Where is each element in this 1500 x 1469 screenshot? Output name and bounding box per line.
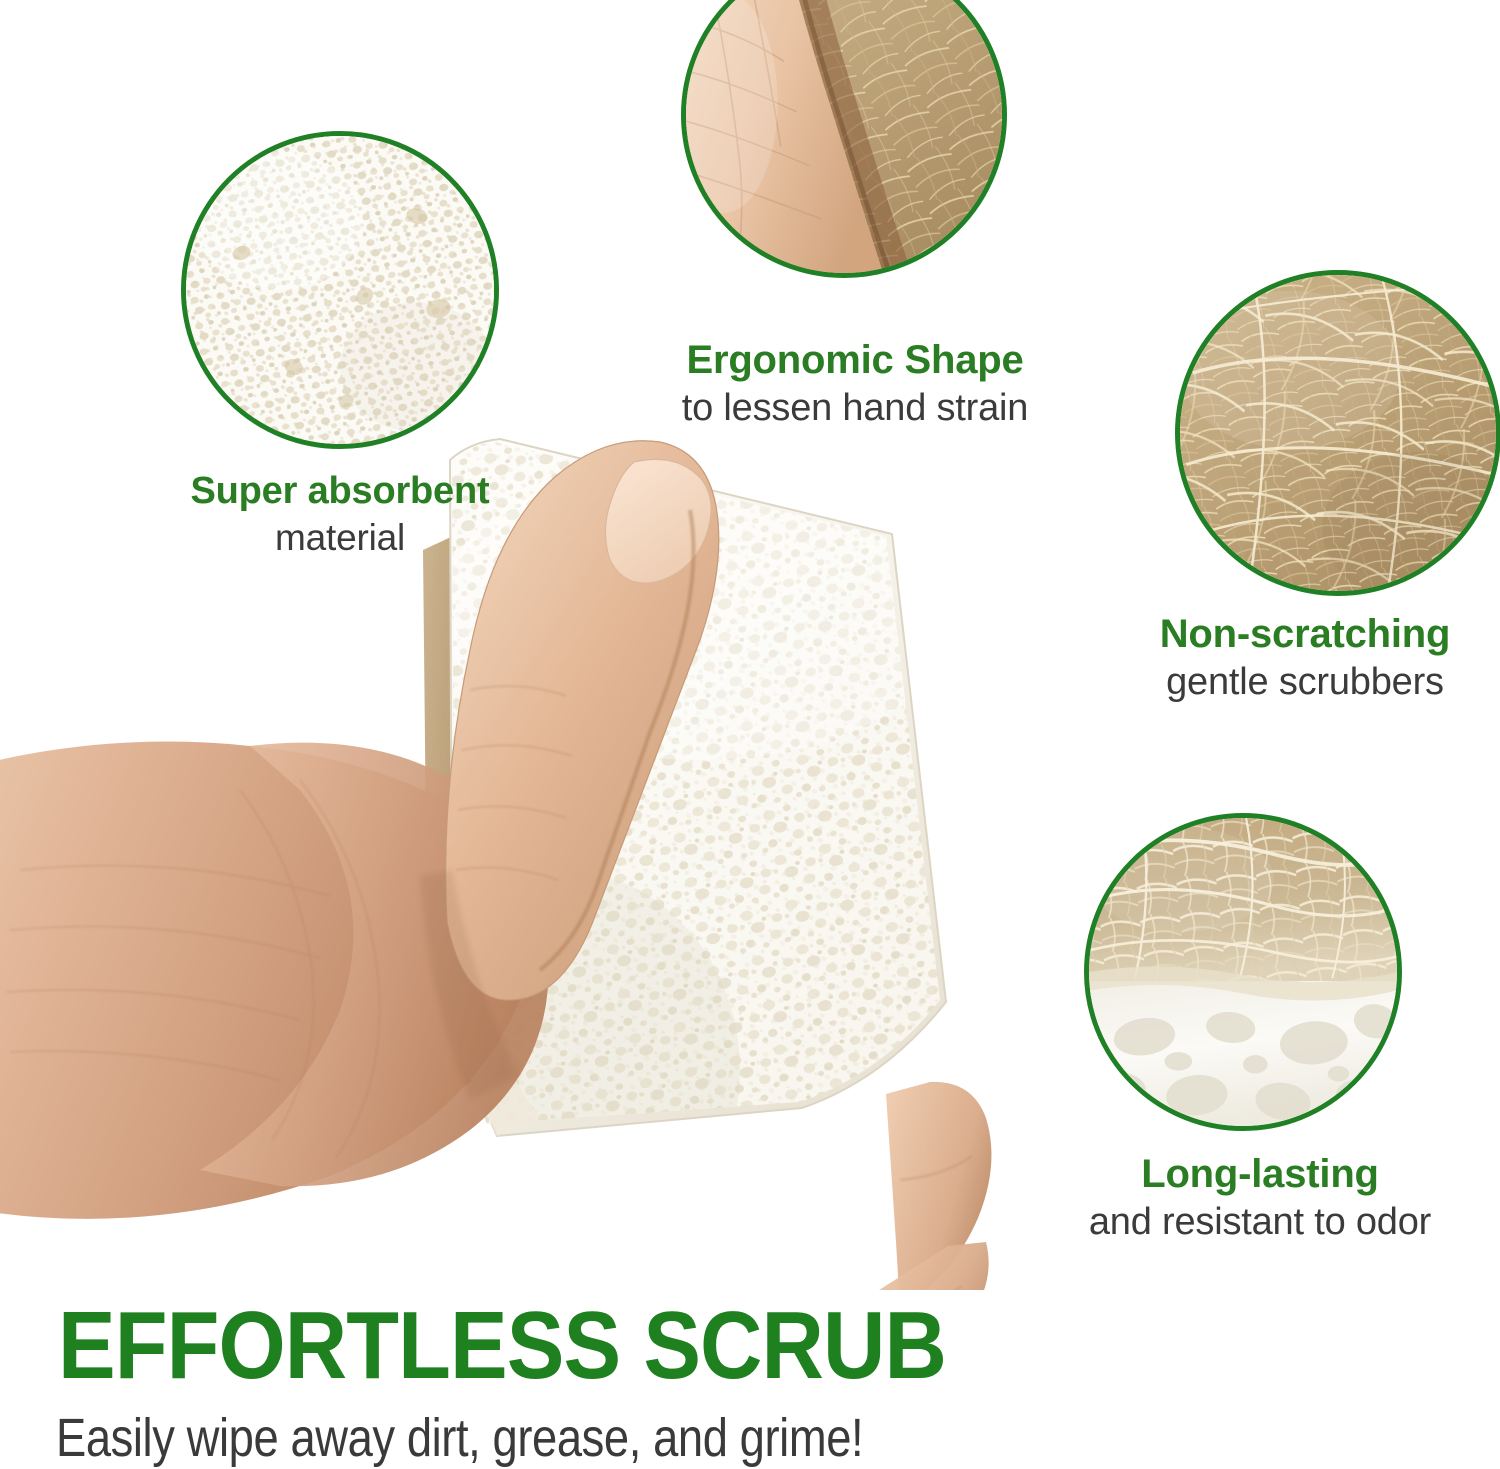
banner-subheadline: Easily wipe away dirt, grease, and grime… bbox=[56, 1410, 1269, 1467]
feature-title: Super absorbent bbox=[105, 470, 575, 513]
feature-title: Long-lasting bbox=[1020, 1152, 1500, 1197]
feature-subtitle: to lessen hand strain bbox=[600, 387, 1110, 430]
feature-caption: Non-scratching gentle scrubbers bbox=[1105, 612, 1500, 703]
hero-product-image bbox=[0, 430, 1010, 1290]
feature-subtitle: material bbox=[105, 517, 575, 558]
thumb-gripping-sponge-closeup-icon bbox=[681, 0, 1007, 278]
feature-caption: Super absorbent material bbox=[105, 470, 575, 558]
layered-cross-section-texture bbox=[1089, 818, 1397, 1126]
hand-holding-sponge-illustration bbox=[0, 430, 1010, 1290]
feature-subtitle: gentle scrubbers bbox=[1105, 661, 1500, 704]
feature-title: Ergonomic Shape bbox=[600, 338, 1110, 383]
loofah-fiber-texture bbox=[1180, 275, 1496, 591]
feature-caption: Ergonomic Shape to lessen hand strain bbox=[600, 338, 1110, 429]
sponge-loofah-layers-cross-section-icon bbox=[1084, 813, 1402, 1131]
feature-subtitle: and resistant to odor bbox=[1020, 1201, 1500, 1244]
loofah-fiber-texture-closeup-icon bbox=[1175, 270, 1500, 596]
fingertips bbox=[812, 1082, 991, 1290]
feature-title: Non-scratching bbox=[1105, 612, 1500, 657]
banner-headline: EFFORTLESS SCRUB bbox=[58, 1300, 1356, 1392]
thumb-and-loofah-texture bbox=[686, 0, 1002, 273]
bottom-banner: EFFORTLESS SCRUB Easily wipe away dirt, … bbox=[0, 1300, 1500, 1467]
white-cellulose-sponge-closeup-icon bbox=[181, 131, 499, 449]
sponge-pore-texture bbox=[186, 136, 494, 444]
feature-caption: Long-lasting and resistant to odor bbox=[1020, 1152, 1500, 1243]
